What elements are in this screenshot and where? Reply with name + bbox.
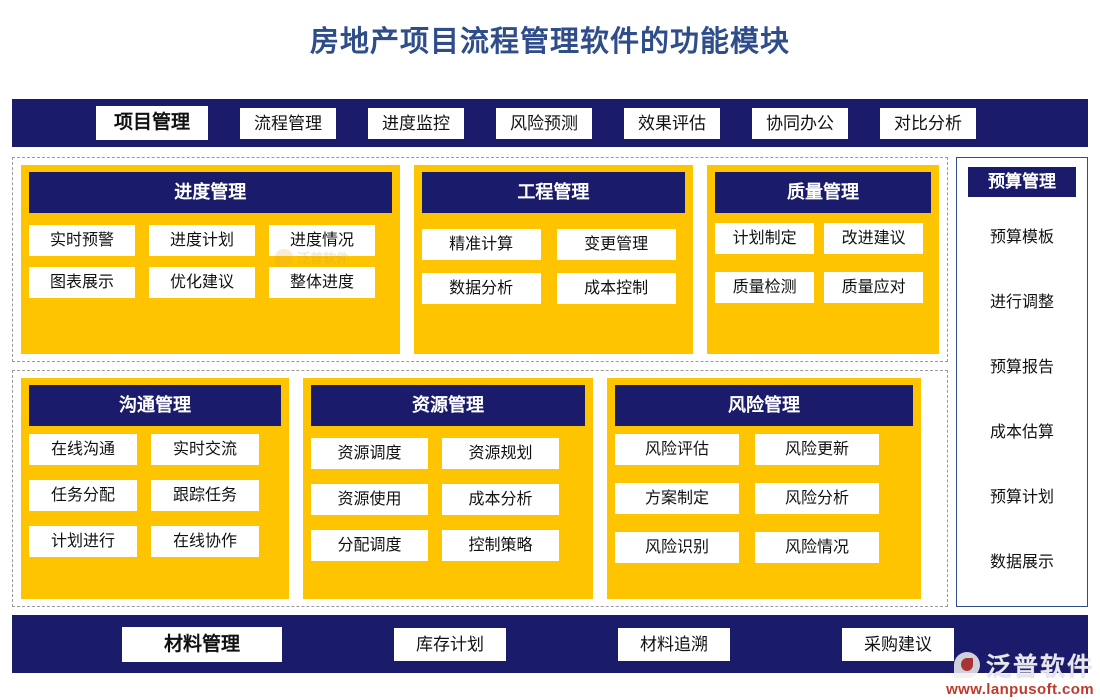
bottom-item-inventory-plan[interactable]: 库存计划 <box>394 628 506 661</box>
panel-title-resource-management: 资源管理 <box>311 385 585 426</box>
panel-body-engineering-management: 精准计算 变更管理 数据分析 成本控制 <box>414 213 693 354</box>
nav-item-comparative-analysis[interactable]: 对比分析 <box>880 108 976 139</box>
panel-body-schedule-management: 实时预警 进度计划 进度情况 图表展示 优化建议 整体进度 <box>21 213 400 354</box>
chip-cost-control[interactable]: 成本控制 <box>557 273 676 304</box>
bottom-navigation-bar: 材料管理 库存计划 材料追溯 采购建议 <box>12 615 1088 673</box>
sidebar-item-cost-estimation[interactable]: 成本估算 <box>990 418 1054 442</box>
sidebar-item-data-display[interactable]: 数据展示 <box>990 548 1054 572</box>
chip-allocation-scheduling[interactable]: 分配调度 <box>311 530 428 561</box>
panel-communication-management[interactable]: 沟通管理 在线沟通 实时交流 任务分配 跟踪任务 计划进行 在线协作 <box>21 378 289 599</box>
chip-risk-status[interactable]: 风险情况 <box>755 532 879 563</box>
panel-body-resource-management: 资源调度 资源规划 资源使用 成本分析 分配调度 控制策略 <box>303 426 593 599</box>
top-navigation-bar: 项目管理 流程管理 进度监控 风险预测 效果评估 协同办公 对比分析 <box>12 99 1088 147</box>
sidebar-item-budget-report[interactable]: 预算报告 <box>990 353 1054 377</box>
bottom-item-procurement-advice[interactable]: 采购建议 <box>842 628 954 661</box>
panel-quality-management[interactable]: 质量管理 计划制定 改进建议 质量检测 质量应对 <box>707 165 939 354</box>
panel-engineering-management[interactable]: 工程管理 精准计算 变更管理 数据分析 成本控制 <box>414 165 693 354</box>
chip-online-collaboration[interactable]: 在线协作 <box>151 526 259 557</box>
nav-item-collaborative-office[interactable]: 协同办公 <box>752 108 848 139</box>
nav-item-risk-forecast[interactable]: 风险预测 <box>496 108 592 139</box>
chip-quality-inspection[interactable]: 质量检测 <box>715 272 814 303</box>
chip-resource-usage[interactable]: 资源使用 <box>311 484 428 515</box>
sidebar-item-budget-template[interactable]: 预算模板 <box>990 223 1054 247</box>
sidebar-item-budget-plan[interactable]: 预算计划 <box>990 483 1054 507</box>
chip-optimization-advice[interactable]: 优化建议 <box>149 267 255 298</box>
chip-schedule-plan[interactable]: 进度计划 <box>149 225 255 256</box>
panel-title-risk-management: 风险管理 <box>615 385 913 426</box>
panel-title-communication-management: 沟通管理 <box>29 385 281 426</box>
nav-item-progress-monitoring[interactable]: 进度监控 <box>368 108 464 139</box>
chip-control-strategy[interactable]: 控制策略 <box>442 530 559 561</box>
chip-precise-calculation[interactable]: 精准计算 <box>422 229 541 260</box>
chip-data-analysis[interactable]: 数据分析 <box>422 273 541 304</box>
bottom-item-material-management[interactable]: 材料管理 <box>122 627 282 662</box>
nav-item-effect-evaluation[interactable]: 效果评估 <box>624 108 720 139</box>
chip-risk-assessment[interactable]: 风险评估 <box>615 434 739 465</box>
panel-resource-management[interactable]: 资源管理 资源调度 资源规划 资源使用 成本分析 分配调度 控制策略 <box>303 378 593 599</box>
chip-realtime-alert[interactable]: 实时预警 <box>29 225 135 256</box>
sidebar-item-list: 预算模板 进行调整 预算报告 成本估算 预算计划 数据展示 <box>957 197 1087 596</box>
chip-chart-display[interactable]: 图表展示 <box>29 267 135 298</box>
chip-risk-analysis[interactable]: 风险分析 <box>755 483 879 514</box>
panel-body-communication-management: 在线沟通 实时交流 任务分配 跟踪任务 计划进行 在线协作 <box>21 426 289 599</box>
chip-online-communication[interactable]: 在线沟通 <box>29 434 137 465</box>
panel-title-schedule-management: 进度管理 <box>29 172 392 213</box>
chip-task-assignment[interactable]: 任务分配 <box>29 480 137 511</box>
panel-body-quality-management: 计划制定 改进建议 质量检测 质量应对 <box>707 213 939 354</box>
chip-resource-scheduling[interactable]: 资源调度 <box>311 438 428 469</box>
nav-item-process-management[interactable]: 流程管理 <box>240 108 336 139</box>
panel-title-quality-management: 质量管理 <box>715 172 931 213</box>
budget-management-sidebar: 预算管理 预算模板 进行调整 预算报告 成本估算 预算计划 数据展示 <box>956 157 1088 607</box>
bottom-item-material-traceability[interactable]: 材料追溯 <box>618 628 730 661</box>
chip-risk-identification[interactable]: 风险识别 <box>615 532 739 563</box>
chip-realtime-exchange[interactable]: 实时交流 <box>151 434 259 465</box>
chip-plan-execution[interactable]: 计划进行 <box>29 526 137 557</box>
panel-schedule-management[interactable]: 进度管理 实时预警 进度计划 进度情况 图表展示 优化建议 整体进度 <box>21 165 400 354</box>
chip-risk-update[interactable]: 风险更新 <box>755 434 879 465</box>
sidebar-title-budget-management: 预算管理 <box>968 167 1076 197</box>
panel-body-risk-management: 风险评估 风险更新 方案制定 风险分析 风险识别 风险情况 <box>607 426 921 599</box>
module-groups-column: 进度管理 实时预警 进度计划 进度情况 图表展示 优化建议 整体进度 工程管理 … <box>12 157 948 607</box>
chip-schedule-status[interactable]: 进度情况 <box>269 225 375 256</box>
page-title: 房地产项目流程管理软件的功能模块 <box>0 0 1100 57</box>
chip-cost-analysis[interactable]: 成本分析 <box>442 484 559 515</box>
chip-task-tracking[interactable]: 跟踪任务 <box>151 480 259 511</box>
module-group-row-2: 沟通管理 在线沟通 实时交流 任务分配 跟踪任务 计划进行 在线协作 资源管理 … <box>12 370 948 607</box>
panel-title-engineering-management: 工程管理 <box>422 172 685 213</box>
nav-item-project-management[interactable]: 项目管理 <box>96 106 208 140</box>
chip-scheme-formulation[interactable]: 方案制定 <box>615 483 739 514</box>
chip-quality-response[interactable]: 质量应对 <box>824 272 923 303</box>
main-content: 进度管理 实时预警 进度计划 进度情况 图表展示 优化建议 整体进度 工程管理 … <box>12 157 1088 607</box>
sidebar-item-make-adjustment[interactable]: 进行调整 <box>990 288 1054 312</box>
chip-resource-planning[interactable]: 资源规划 <box>442 438 559 469</box>
module-group-row-1: 进度管理 实时预警 进度计划 进度情况 图表展示 优化建议 整体进度 工程管理 … <box>12 157 948 362</box>
chip-plan-formulation[interactable]: 计划制定 <box>715 223 814 254</box>
chip-overall-progress[interactable]: 整体进度 <box>269 267 375 298</box>
chip-change-management[interactable]: 变更管理 <box>557 229 676 260</box>
chip-improvement-advice[interactable]: 改进建议 <box>824 223 923 254</box>
panel-risk-management[interactable]: 风险管理 风险评估 风险更新 方案制定 风险分析 风险识别 风险情况 <box>607 378 921 599</box>
corner-watermark-url: www.lanpusoft.com <box>946 681 1094 698</box>
